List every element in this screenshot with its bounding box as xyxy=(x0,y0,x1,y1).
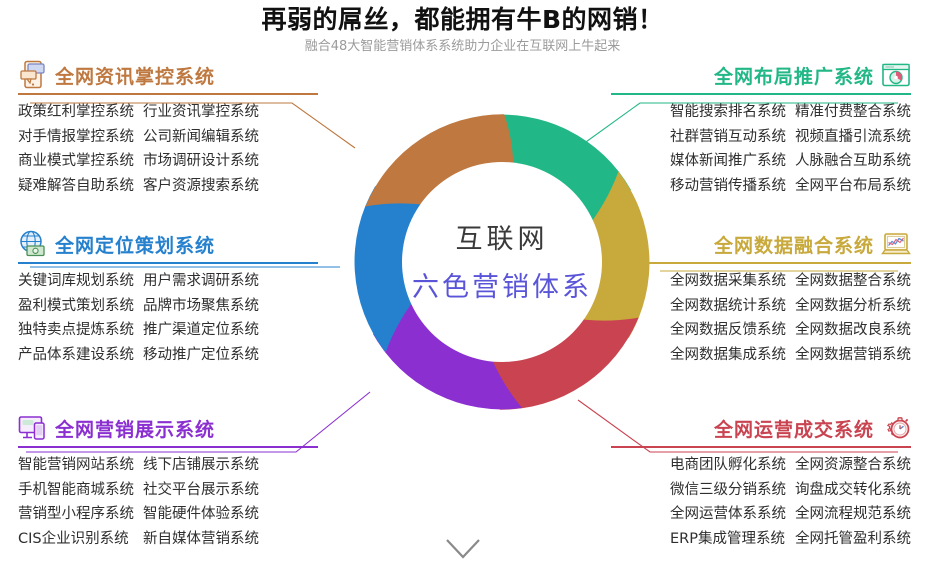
laptop-chart-icon xyxy=(881,229,911,259)
list-item[interactable]: 询盘成交转化系统 xyxy=(795,478,911,503)
list-item[interactable]: 盈利模式策划系统 xyxy=(18,294,134,319)
list-item[interactable]: 精准付费整合系统 xyxy=(795,100,911,125)
panel-title: 全网运营成交系统 xyxy=(714,415,874,442)
list-item[interactable]: 全网数据反馈系统 xyxy=(670,318,786,343)
list-item[interactable]: 推广渠道定位系统 xyxy=(143,318,259,343)
panel-layout-promotion[interactable]: 全网布局推广系统 智能搜索排名系统 精准付费整合系统 社群营销互动系统 视频直播… xyxy=(611,58,911,198)
list-item[interactable]: 媒体新闻推广系统 xyxy=(670,149,786,174)
list-item[interactable]: 社交平台展示系统 xyxy=(143,478,259,503)
panel-positioning-planning[interactable]: 全网定位策划系统 关键词库规划系统 用户需求调研系统 盈利模式策划系统 品牌市场… xyxy=(18,227,318,367)
panel-header: 全网运营成交系统 xyxy=(611,411,911,445)
panel-header: 全网数据融合系统 xyxy=(611,227,911,261)
list-item[interactable]: 智能营销网站系统 xyxy=(18,453,134,478)
panel-items: 关键词库规划系统 用户需求调研系统 盈利模式策划系统 品牌市场聚焦系统 独特卖点… xyxy=(18,264,318,367)
stopwatch-gear-icon xyxy=(881,413,911,443)
list-item[interactable]: 市场调研设计系统 xyxy=(143,149,259,174)
list-item[interactable]: 行业资讯掌控系统 xyxy=(143,100,259,125)
panel-operation-deal[interactable]: 全网运营成交系统 电商团队孵化系统 全网资源整合系统 微信三级分销系统 询盘成交… xyxy=(611,411,911,551)
list-item[interactable]: 全网托管盈利系统 xyxy=(795,527,911,552)
panel-data-fusion[interactable]: 全网数据融合系统 全网数据采集系统 全网数据整合系统 全网数据统计系统 全网数据… xyxy=(611,227,911,367)
list-item[interactable]: 全网运营体系系统 xyxy=(670,502,786,527)
browser-chart-icon xyxy=(881,60,911,90)
panel-info-control[interactable]: 全网资讯掌控系统 政策红利掌控系统 行业资讯掌控系统 对手情报掌控系统 公司新闻… xyxy=(18,58,318,198)
panel-items: 电商团队孵化系统 全网资源整合系统 微信三级分销系统 询盘成交转化系统 全网运营… xyxy=(611,448,911,551)
list-item[interactable]: 视频直播引流系统 xyxy=(795,125,911,150)
list-item[interactable]: 智能搜索排名系统 xyxy=(670,100,786,125)
list-item[interactable]: 人脉融合互助系统 xyxy=(795,149,911,174)
list-item[interactable]: 移动推广定位系统 xyxy=(143,343,259,368)
list-item[interactable]: 关键词库规划系统 xyxy=(18,269,134,294)
panel-items: 智能搜索排名系统 精准付费整合系统 社群营销互动系统 视频直播引流系统 媒体新闻… xyxy=(611,95,911,198)
list-item[interactable]: 全网平台布局系统 xyxy=(795,174,911,199)
infographic-canvas: 再弱的屌丝，都能拥有牛B的网销！ 融合48大智能营销体系系统助力企业在互联网上牛… xyxy=(0,0,925,562)
list-item[interactable]: 社群营销互动系统 xyxy=(670,125,786,150)
list-item[interactable]: 公司新闻编辑系统 xyxy=(143,125,259,150)
list-item[interactable]: ERP集成管理系统 xyxy=(670,527,786,552)
panel-header: 全网布局推广系统 xyxy=(611,58,911,92)
list-item[interactable]: 营销型小程序系统 xyxy=(18,502,134,527)
panel-title: 全网营销展示系统 xyxy=(55,415,215,442)
list-item[interactable]: 用户需求调研系统 xyxy=(143,269,259,294)
list-item[interactable]: 政策红利掌控系统 xyxy=(18,100,134,125)
list-item[interactable]: 商业模式掌控系统 xyxy=(18,149,134,174)
panel-title: 全网资讯掌控系统 xyxy=(55,62,215,89)
list-item[interactable]: 全网资源整合系统 xyxy=(795,453,911,478)
list-item[interactable]: 智能硬件体验系统 xyxy=(143,502,259,527)
list-item[interactable]: 新自媒体营销系统 xyxy=(143,527,259,552)
list-item[interactable]: 疑难解答自助系统 xyxy=(18,174,134,199)
list-item[interactable]: 对手情报掌控系统 xyxy=(18,125,134,150)
list-item[interactable]: 移动营销传播系统 xyxy=(670,174,786,199)
list-item[interactable]: 全网数据采集系统 xyxy=(670,269,786,294)
list-item[interactable]: 全网数据改良系统 xyxy=(795,318,911,343)
list-item[interactable]: 品牌市场聚焦系统 xyxy=(143,294,259,319)
panel-header: 全网营销展示系统 xyxy=(18,411,318,445)
chevron-down-icon[interactable] xyxy=(445,538,481,560)
panel-marketing-display[interactable]: 全网营销展示系统 智能营销网站系统 线下店铺展示系统 手机智能商城系统 社交平台… xyxy=(18,411,318,551)
panel-title: 全网布局推广系统 xyxy=(714,62,874,89)
globe-money-icon xyxy=(18,229,48,259)
list-item[interactable]: 独特卖点提炼系统 xyxy=(18,318,134,343)
list-item[interactable]: 客户资源搜索系统 xyxy=(143,174,259,199)
panel-items: 政策红利掌控系统 行业资讯掌控系统 对手情报掌控系统 公司新闻编辑系统 商业模式… xyxy=(18,95,318,198)
list-item[interactable]: 全网数据营销系统 xyxy=(795,343,911,368)
list-item[interactable]: 微信三级分销系统 xyxy=(670,478,786,503)
monitor-phone-icon xyxy=(18,413,48,443)
panel-title: 全网定位策划系统 xyxy=(55,231,215,258)
list-item[interactable]: 全网数据统计系统 xyxy=(670,294,786,319)
list-item[interactable]: 线下店铺展示系统 xyxy=(143,453,259,478)
panel-title: 全网数据融合系统 xyxy=(714,231,874,258)
panel-items: 全网数据采集系统 全网数据整合系统 全网数据统计系统 全网数据分析系统 全网数据… xyxy=(611,264,911,367)
list-item[interactable]: 全网数据集成系统 xyxy=(670,343,786,368)
panel-header: 全网资讯掌控系统 xyxy=(18,58,318,92)
list-item[interactable]: 产品体系建设系统 xyxy=(18,343,134,368)
list-item[interactable]: 全网数据整合系统 xyxy=(795,269,911,294)
list-item[interactable]: 全网流程规范系统 xyxy=(795,502,911,527)
list-item[interactable]: CIS企业识别系统 xyxy=(18,527,134,552)
list-item[interactable]: 手机智能商城系统 xyxy=(18,478,134,503)
panel-header: 全网定位策划系统 xyxy=(18,227,318,261)
list-item[interactable]: 全网数据分析系统 xyxy=(795,294,911,319)
panel-items: 智能营销网站系统 线下店铺展示系统 手机智能商城系统 社交平台展示系统 营销型小… xyxy=(18,448,318,551)
list-item[interactable]: 电商团队孵化系统 xyxy=(670,453,786,478)
chat-device-icon xyxy=(18,60,48,90)
